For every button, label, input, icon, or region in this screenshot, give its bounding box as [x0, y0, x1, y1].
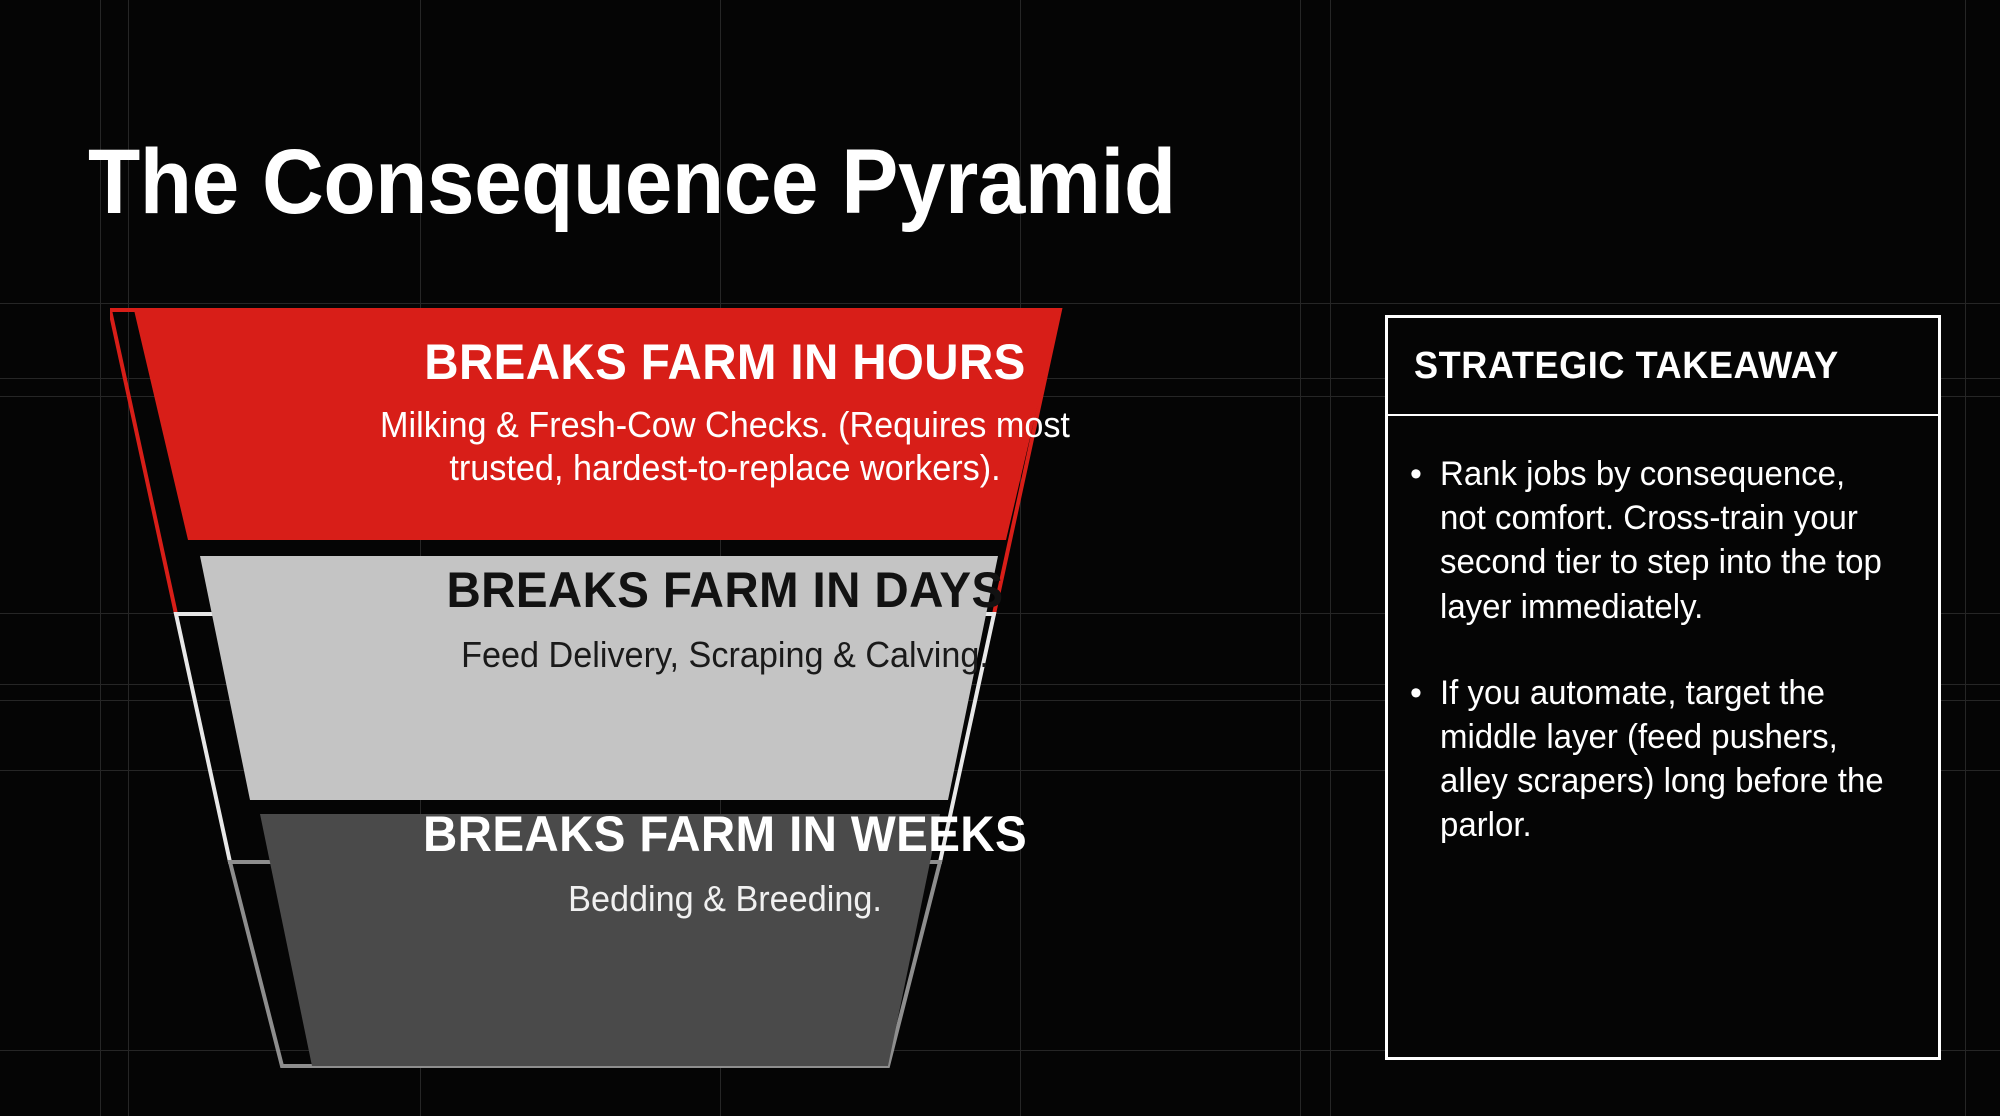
takeaway-bullet-list: • Rank jobs by consequence, not comfort.… [1388, 416, 1938, 848]
tier-days-shape[interactable] [200, 556, 998, 800]
takeaway-header-label: STRATEGIC TAKEAWAY [1414, 345, 1839, 388]
list-item: • If you automate, target the middle lay… [1410, 671, 1914, 848]
page-title: The Consequence Pyramid [88, 136, 1176, 228]
strategic-takeaway-panel: STRATEGIC TAKEAWAY • Rank jobs by conseq… [1385, 315, 1941, 1060]
slide-canvas: The Consequence Pyramid BREAKS FARM IN H… [0, 0, 2000, 1116]
tier-hours-shape[interactable] [134, 310, 1060, 540]
consequence-pyramid: BREAKS FARM IN HOURS Milking & Fresh-Cow… [110, 308, 1340, 1068]
pyramid-tiers [134, 310, 1060, 1066]
takeaway-bullet-text: Rank jobs by consequence, not comfort. C… [1440, 452, 1900, 629]
list-item: • Rank jobs by consequence, not comfort.… [1410, 452, 1914, 629]
bullet-icon: • [1410, 452, 1440, 629]
takeaway-bullet-text: If you automate, target the middle layer… [1440, 671, 1900, 848]
takeaway-header: STRATEGIC TAKEAWAY [1388, 318, 1938, 416]
pyramid-shapes [110, 308, 1340, 1068]
bullet-icon: • [1410, 671, 1440, 848]
tier-weeks-shape[interactable] [260, 814, 940, 1066]
